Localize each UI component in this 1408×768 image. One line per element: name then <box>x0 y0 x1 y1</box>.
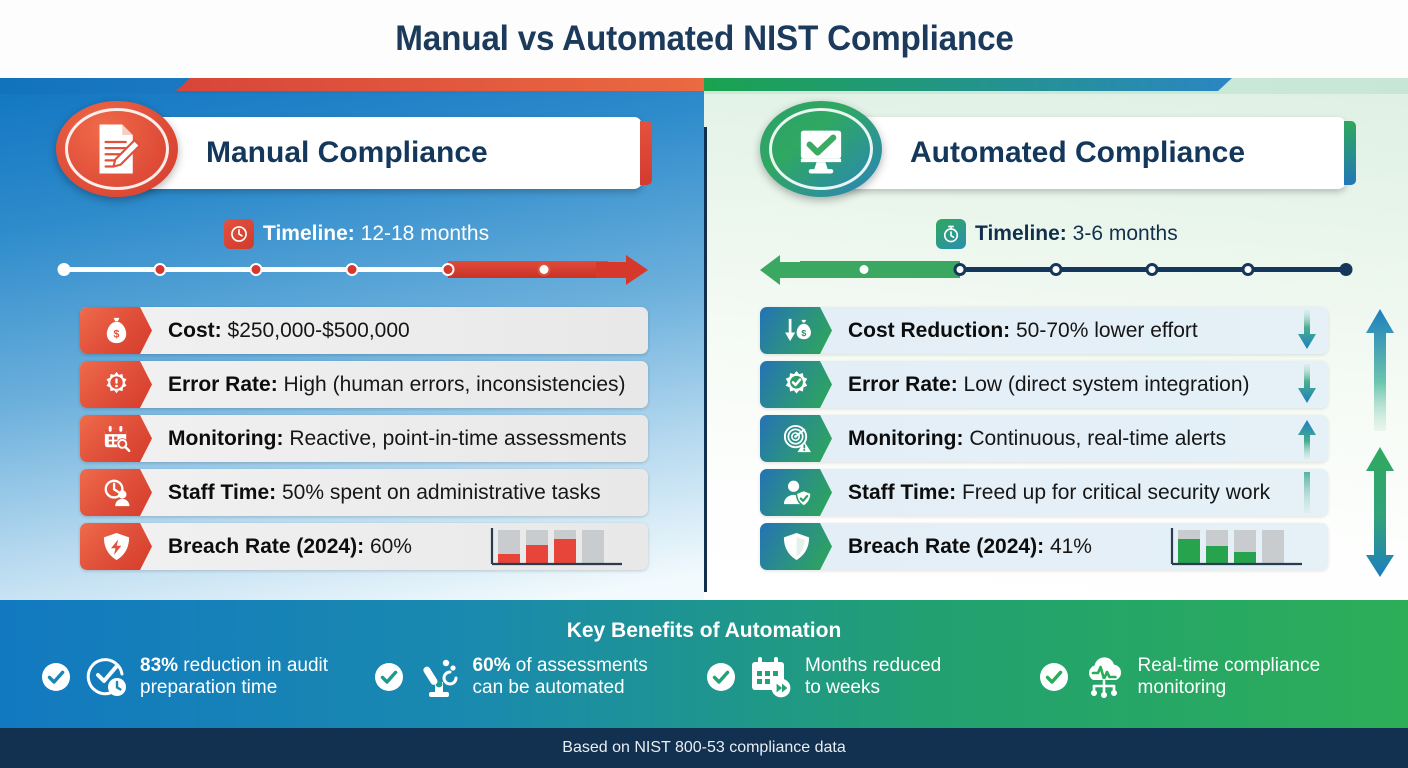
benefit-stat: 60% <box>473 655 511 676</box>
document-pencil-icon <box>56 101 178 197</box>
manual-header-row: Manual Compliance <box>56 113 648 193</box>
row-value: Low (direct system integration) <box>964 373 1250 396</box>
table-row: Staff Time: 50% spent on administrative … <box>80 469 648 516</box>
row-label: Error Rate: <box>848 373 958 396</box>
check-circle-icon <box>1038 661 1070 693</box>
cloud-pulse-icon <box>1080 654 1128 700</box>
benefit-line1: Months reduced <box>805 655 941 676</box>
page-title: Manual vs Automated NIST Compliance <box>395 19 1013 59</box>
manual-header-card: Manual Compliance <box>122 117 642 189</box>
row-label: Cost: <box>168 319 222 342</box>
row-value: $250,000-$500,000 <box>228 319 410 342</box>
monitor-check-icon <box>760 101 882 197</box>
accent-left-band <box>176 78 704 91</box>
shield-icon <box>760 523 832 570</box>
manual-panel: Manual Compliance <box>0 91 704 600</box>
money-bag-icon: $ <box>80 307 152 354</box>
row-label: Cost Reduction: <box>848 319 1010 342</box>
table-row: Breach Rate (2024): 41% <box>760 523 1328 570</box>
manual-timeline-key: Timeline: <box>263 222 355 245</box>
automated-breach-minichart <box>1164 526 1314 568</box>
table-row: Error Rate: High (human errors, inconsis… <box>80 361 648 408</box>
manual-timeline-progress <box>448 261 608 278</box>
row-label: Monitoring: <box>168 427 283 450</box>
row-label: Staff Time: <box>848 481 956 504</box>
timeline-dot <box>58 263 71 276</box>
automated-panel: Automated Compliance <box>704 91 1408 600</box>
benefit-text: Real-time compliancemonitoring <box>1138 655 1321 700</box>
footer-bar: Based on NIST 800-53 compliance data <box>0 728 1408 768</box>
timeline-dot <box>250 263 263 276</box>
automated-timeline-text: Timeline: 3-6 months <box>975 222 1178 246</box>
table-row: $ Cost: $250,000-$500,000 <box>80 307 648 354</box>
list-item: 83% reduction in auditpreparation time <box>40 654 373 700</box>
top-accent-strip <box>0 78 1408 94</box>
benefit-line1: reduction in audit <box>178 655 328 676</box>
row-text: Breach Rate (2024): 60% <box>168 535 412 559</box>
automated-timeline-label: Timeline: 3-6 months <box>936 219 1178 249</box>
benefits-list: 83% reduction in auditpreparation time <box>40 654 1370 700</box>
automated-card-edge <box>1344 121 1356 185</box>
list-item: 60% of assessmentscan be automated <box>373 654 706 700</box>
down-arrow-money-icon: $ <box>760 307 832 354</box>
timeline-dot <box>1340 263 1353 276</box>
title-bar: Manual vs Automated NIST Compliance <box>0 0 1408 78</box>
manual-timeline-arrow-icon <box>596 255 648 290</box>
row-text: Error Rate: High (human errors, inconsis… <box>168 373 626 397</box>
clock-check-icon <box>82 654 130 700</box>
manual-timeline-value: 12-18 months <box>361 222 489 245</box>
table-row: Breach Rate (2024): 60% <box>80 523 648 570</box>
comparison-body: Manual Compliance <box>0 91 1408 600</box>
automated-metric-rows: $ Cost Reduction: 50-70% lower effort <box>760 307 1328 577</box>
row-label: Monitoring: <box>848 427 963 450</box>
timeline-dot <box>154 263 167 276</box>
row-text: Breach Rate (2024): 41% <box>848 535 1092 559</box>
table-row: Monitoring: Reactive, point-in-time asse… <box>80 415 648 462</box>
automated-timeline-key: Timeline: <box>975 222 1067 245</box>
list-item: Months reducedto weeks <box>705 654 1038 700</box>
benefits-bar: Key Benefits of Automation 83% reduction… <box>0 600 1408 728</box>
svg-text:$: $ <box>801 328 806 338</box>
row-text: Cost Reduction: 50-70% lower effort <box>848 319 1198 343</box>
timeline-dot <box>954 263 967 276</box>
check-circle-icon <box>40 661 72 693</box>
row-label: Staff Time: <box>168 481 276 504</box>
arrow-up-icon <box>1295 472 1319 513</box>
arrow-up-icon <box>1295 418 1319 459</box>
table-row: $ Cost Reduction: 50-70% lower effort <box>760 307 1328 354</box>
panel-divider <box>704 127 707 592</box>
automated-header-card: Automated Compliance <box>826 117 1346 189</box>
timeline-dot <box>1146 263 1159 276</box>
arrow-down-icon <box>1295 310 1319 351</box>
row-value: Freed up for critical security work <box>962 481 1270 504</box>
shield-breach-icon <box>80 523 152 570</box>
row-value: 50% spent on administrative tasks <box>282 481 601 504</box>
clock-icon <box>224 219 254 249</box>
benefit-stat: 83% <box>140 655 178 676</box>
automated-timeline-arrow-icon <box>760 255 808 290</box>
row-text: Cost: $250,000-$500,000 <box>168 319 410 343</box>
clock-person-icon <box>80 469 152 516</box>
benefit-text: Months reducedto weeks <box>805 655 941 700</box>
accent-right-band <box>704 78 1232 91</box>
manual-heading: Manual Compliance <box>206 136 488 170</box>
timeline-dot <box>346 263 359 276</box>
benefit-line2: to weeks <box>805 677 880 698</box>
benefit-line2: preparation time <box>140 677 277 698</box>
row-text: Monitoring: Continuous, real-time alerts <box>848 427 1226 451</box>
footer-source: Based on NIST 800-53 compliance data <box>562 739 845 757</box>
timeline-dot <box>538 263 551 276</box>
automated-timeline-track <box>760 255 1352 285</box>
row-label: Breach Rate (2024): <box>848 535 1044 558</box>
manual-timeline-text: Timeline: 12-18 months <box>263 222 489 246</box>
row-value: High (human errors, inconsistencies) <box>284 373 626 396</box>
automated-heading: Automated Compliance <box>910 136 1245 170</box>
gear-check-icon <box>760 361 832 408</box>
manual-card-edge <box>640 121 652 185</box>
benefits-heading: Key Benefits of Automation <box>0 619 1408 643</box>
row-value: 50-70% lower effort <box>1016 319 1198 342</box>
timeline-dot <box>1050 263 1063 276</box>
manual-timeline-track <box>56 255 648 285</box>
robot-arm-icon <box>415 654 463 700</box>
arrow-down-icon <box>1295 364 1319 405</box>
benefit-text: 60% of assessmentscan be automated <box>473 655 648 700</box>
manual-metric-rows: $ Cost: $250,000-$500,000 Err <box>80 307 648 577</box>
row-label: Error Rate: <box>168 373 278 396</box>
gear-alert-icon <box>80 361 152 408</box>
timeline-dot <box>442 263 455 276</box>
row-value: Reactive, point-in-time assessments <box>289 427 626 450</box>
row-value: Continuous, real-time alerts <box>969 427 1226 450</box>
calendar-fast-icon <box>747 654 795 700</box>
stopwatch-icon <box>936 219 966 249</box>
check-circle-icon <box>373 661 405 693</box>
timeline-dot <box>858 263 871 276</box>
row-text: Staff Time: 50% spent on administrative … <box>168 481 601 505</box>
row-value: 41% <box>1050 535 1092 558</box>
benefit-line2: monitoring <box>1138 677 1227 698</box>
trend-arrows-group <box>1360 307 1400 579</box>
calendar-search-icon <box>80 415 152 462</box>
row-text: Error Rate: Low (direct system integrati… <box>848 373 1250 397</box>
automated-timeline-value: 3-6 months <box>1073 222 1178 245</box>
list-item: Real-time compliancemonitoring <box>1038 654 1371 700</box>
row-label: Breach Rate (2024): <box>168 535 364 558</box>
automated-header-row: Automated Compliance <box>760 113 1352 193</box>
table-row: Monitoring: Continuous, real-time alerts <box>760 415 1328 462</box>
automated-timeline-progress <box>800 261 960 278</box>
benefit-text: 83% reduction in auditpreparation time <box>140 655 328 700</box>
svg-text:$: $ <box>113 328 119 340</box>
row-value: 60% <box>370 535 412 558</box>
check-circle-icon <box>705 661 737 693</box>
manual-breach-minichart <box>484 526 634 568</box>
table-row: Staff Time: Freed up for critical securi… <box>760 469 1328 516</box>
infographic-root: Manual vs Automated NIST Compliance Manu… <box>0 0 1408 768</box>
radar-alert-icon <box>760 415 832 462</box>
timeline-dot <box>1242 263 1255 276</box>
manual-timeline-label: Timeline: 12-18 months <box>224 219 489 249</box>
benefit-line1: Real-time compliance <box>1138 655 1321 676</box>
benefit-line2: can be automated <box>473 677 625 698</box>
person-shield-icon <box>760 469 832 516</box>
benefit-line1: of assessments <box>511 655 648 676</box>
row-text: Monitoring: Reactive, point-in-time asse… <box>168 427 627 451</box>
table-row: Error Rate: Low (direct system integrati… <box>760 361 1328 408</box>
row-text: Staff Time: Freed up for critical securi… <box>848 481 1270 505</box>
